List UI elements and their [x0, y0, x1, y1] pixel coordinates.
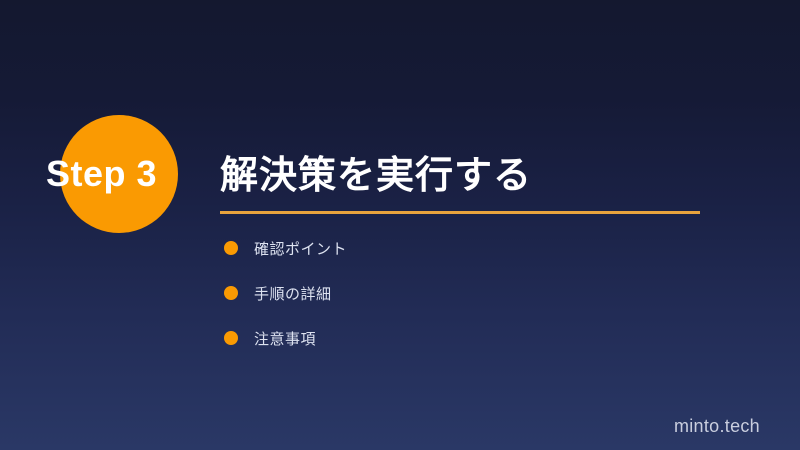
title-divider [220, 211, 700, 214]
bullet-dot-icon [224, 286, 238, 300]
list-item: 確認ポイント [224, 241, 644, 286]
list-item: 手順の詳細 [224, 286, 644, 331]
bullet-dot-icon [224, 331, 238, 345]
bullet-item-label: 注意事項 [254, 328, 316, 349]
slide-title: 解決策を実行する [220, 144, 532, 199]
bullet-item-label: 確認ポイント [254, 238, 347, 259]
bullet-list: 確認ポイント 手順の詳細 注意事項 [224, 241, 644, 376]
bullet-dot-icon [224, 241, 238, 255]
step-label: Step 3 [46, 152, 206, 196]
bullet-item-label: 手順の詳細 [254, 283, 332, 304]
presentation-slide: Step 3 解決策を実行する 確認ポイント 手順の詳細 注意事項 minto.… [0, 0, 800, 450]
list-item: 注意事項 [224, 331, 644, 376]
footer-brand: minto.tech [674, 416, 760, 437]
